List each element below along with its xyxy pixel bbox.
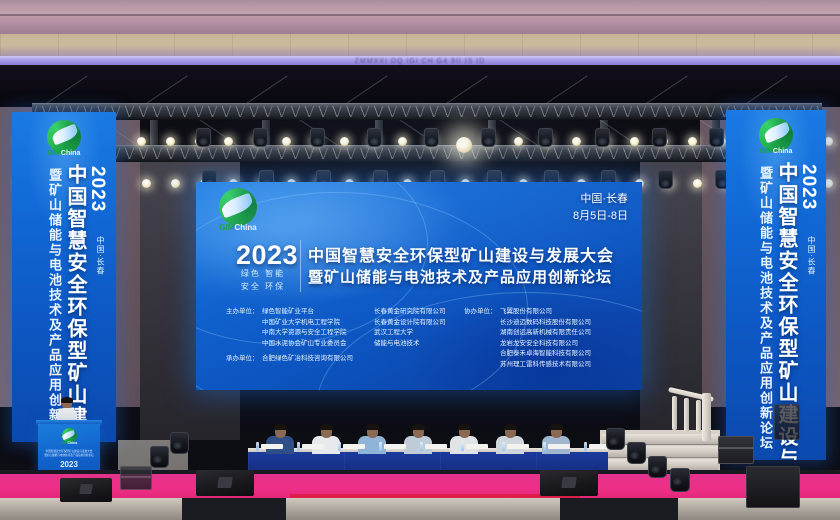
- co-organizer: 苏州理工雷科传感技术有限公司: [500, 360, 591, 371]
- undertaker-name: 合肥绿色矿冶科技咨询有限公司: [262, 354, 353, 365]
- host-organization: 绿色智能矿业平台: [262, 307, 347, 318]
- panelist-hair: [504, 424, 517, 430]
- logo-china-text: China: [234, 223, 256, 232]
- logo-china-text: China: [773, 148, 792, 155]
- stage-monitor-speaker: [196, 470, 254, 496]
- stage-spotlight: [688, 137, 697, 146]
- co-organizer: 湖南创远高新机械有限责任公司: [500, 328, 591, 339]
- screen-title-line1: 中国智慧安全环保型矿山建设与发展大会: [308, 242, 614, 266]
- gim-china-logo-icon: GIMChina: [38, 120, 90, 160]
- logo-gim-text: GIM: [760, 148, 773, 155]
- logo-gim-text: GIM: [48, 150, 61, 157]
- ceiling-led-strip: ZMMXXI DQ IGI CH G4 9II IS ID: [0, 56, 840, 65]
- stage-monitor-speaker: [60, 478, 112, 502]
- co-organizer: 龙岩龙安安全科技有限公司: [500, 339, 591, 350]
- moving-head-light: [170, 432, 189, 454]
- host-organization: 中国矿业大学机电工程学院: [262, 318, 347, 329]
- spotlight-beam: [456, 137, 472, 153]
- ceiling-beige-band: [0, 34, 840, 56]
- line-array-speaker: [746, 466, 800, 508]
- ceiling-moulding: [0, 14, 840, 16]
- moving-head-light: [658, 170, 673, 189]
- ceiling: [0, 0, 840, 34]
- panelist-hair: [274, 424, 287, 430]
- moving-head-light: [538, 128, 553, 147]
- screen-location: 中国·长春: [580, 192, 628, 208]
- moving-head-light: [310, 128, 325, 147]
- ceiling-dark-recess: [0, 65, 840, 107]
- panelist-hair: [458, 424, 471, 430]
- host-label: 主办单位：: [226, 307, 259, 318]
- nameplate: [507, 444, 529, 449]
- water-bottle: [461, 442, 464, 451]
- panelist-hair: [320, 424, 333, 430]
- moving-head-light: [150, 446, 169, 468]
- moving-head-light: [595, 128, 610, 147]
- stage-spotlight: [693, 179, 702, 188]
- moving-head-light: [627, 442, 646, 464]
- host-organizations-column-1: 绿色智能矿业平台中国矿业大学机电工程学院中南大学资源与安全工程学院中国水泥协会矿…: [262, 307, 347, 349]
- podium-year: 2023: [38, 460, 100, 469]
- nameplate: [384, 444, 406, 449]
- water-bottle: [502, 442, 505, 451]
- side-speaker: [774, 404, 800, 440]
- stage-spotlight: [171, 179, 180, 188]
- right-banner-location: 中国·长春: [806, 236, 817, 276]
- apron-shadow-right: [560, 498, 678, 520]
- co-organizer-list: 飞翼股份有限公司长沙迪迈数码科技股份有限公司湖南创远高新机械有限责任公司龙岩龙安…: [500, 307, 591, 370]
- flight-case: [120, 466, 152, 490]
- nameplate: [548, 444, 570, 449]
- podium-line2: 暨矿山储能与电池技术及产品应用创新论坛: [38, 453, 100, 457]
- gim-china-logo-icon: GIMChina: [750, 118, 802, 158]
- ceiling-led-text: ZMMXXI DQ IGI CH G4 9II IS ID: [0, 58, 840, 65]
- stage-spotlight: [340, 137, 349, 146]
- moving-head-light: [196, 128, 211, 147]
- gim-china-logo-icon: GIMChina: [56, 428, 82, 447]
- host-organization: 武汉工程大学: [374, 328, 446, 339]
- water-bottle: [338, 442, 341, 451]
- gim-china-logo-icon: GIMChina: [206, 188, 270, 236]
- moving-head-light: [481, 128, 496, 147]
- host-organization: 中南大学资源与安全工程学院: [262, 328, 347, 339]
- co-organizer: 合肥泰禾卓海智能科技有限公司: [500, 349, 591, 360]
- stage-spotlight: [514, 137, 523, 146]
- moving-head-light: [652, 128, 667, 147]
- host-organizations-column-2: 长春黄金研究院有限公司长春黄金设计院有限公司武汉工程大学储能与电池技术: [374, 307, 446, 349]
- undertaker-label: 承办单位：: [226, 354, 259, 365]
- screen-year: 2023: [236, 240, 298, 271]
- stage-spotlight: [224, 137, 233, 146]
- co-organizer-label: 协办单位：: [464, 307, 497, 318]
- logo-china-text: China: [67, 441, 77, 445]
- nameplate: [302, 444, 324, 449]
- stage-spotlight: [282, 137, 291, 146]
- lighting-truss-lower: [32, 145, 822, 162]
- moving-head-light: [709, 128, 724, 147]
- stage-monitor-speaker: [540, 470, 598, 496]
- water-bottle: [420, 442, 423, 451]
- stage-spotlight: [572, 137, 581, 146]
- logo-gim-text: GIM: [219, 223, 234, 232]
- apron-shadow-left: [182, 498, 286, 520]
- conference-stage-photo: ZMMXXI DQ IGI CH G4 9II IS ID GIMChina 2…: [0, 0, 840, 520]
- host-organization: 长春黄金设计院有限公司: [374, 318, 446, 329]
- host-organization: 中国水泥协会矿山专业委员会: [262, 339, 347, 350]
- screen-date: 8月5日-8日: [573, 209, 628, 225]
- nameplate: [343, 444, 365, 449]
- water-bottle: [543, 442, 546, 451]
- right-banner-subtitle: 暨矿山储能与电池技术及产品应用创新论坛: [756, 166, 775, 451]
- stage-spotlight: [630, 137, 639, 146]
- water-bottle: [297, 442, 300, 451]
- stage-spotlight: [137, 137, 146, 146]
- co-organizer: 飞翼股份有限公司: [500, 307, 591, 318]
- nameplate: [261, 444, 283, 449]
- main-led-screen: GIMChina 中国·长春 8月5日-8日 2023 绿色 智能 安全 环保 …: [196, 182, 642, 390]
- panelist-hair: [366, 424, 379, 430]
- lighting-truss-upper: [32, 103, 822, 120]
- moving-head-light: [367, 128, 382, 147]
- left-banner-location: 中国·长春: [95, 236, 106, 276]
- moving-head-light: [606, 428, 625, 450]
- stage-apron: [0, 498, 840, 520]
- panelist-hair: [412, 424, 425, 430]
- moving-head-light: [253, 128, 268, 147]
- screen-title-divider: [300, 240, 301, 292]
- nameplate: [466, 444, 488, 449]
- screen-title-line2: 暨矿山储能与电池技术及产品应用创新论坛: [308, 266, 612, 287]
- water-bottle: [256, 442, 259, 451]
- stage-spotlight: [166, 137, 175, 146]
- baluster: [696, 400, 701, 432]
- left-vertical-banner: GIMChina 2023 中国·长春 中国智慧安全环保型矿山建设与发展大会 暨…: [12, 112, 116, 442]
- screen-slogan-line2: 安全 环保: [234, 281, 292, 293]
- co-organizer: 长沙迪迈数码科技股份有限公司: [500, 318, 591, 329]
- nameplate: [425, 444, 447, 449]
- water-bottle: [584, 442, 587, 451]
- host-organization: 长春黄金研究院有限公司: [374, 307, 446, 318]
- stage-spotlight: [398, 137, 407, 146]
- baluster: [672, 396, 677, 430]
- moving-head-light: [424, 128, 439, 147]
- screen-slogan-line1: 绿色 智能: [234, 268, 292, 280]
- baluster: [684, 398, 689, 432]
- host-organization: 储能与电池技术: [374, 339, 446, 350]
- flight-case: [718, 436, 754, 464]
- stage-spotlight: [142, 179, 151, 188]
- moving-head-light: [648, 456, 667, 478]
- water-bottle: [379, 442, 382, 451]
- logo-china-text: China: [61, 150, 80, 157]
- newel-post: [702, 393, 711, 441]
- panelist-hair: [550, 424, 563, 430]
- moving-head-light: [670, 468, 690, 492]
